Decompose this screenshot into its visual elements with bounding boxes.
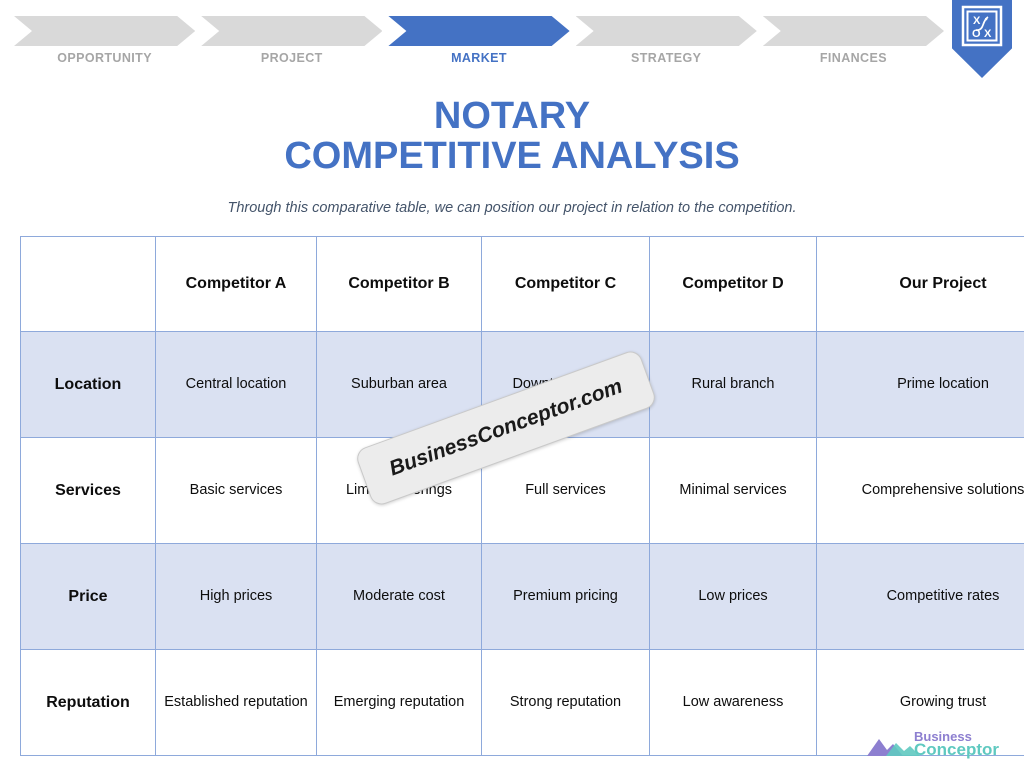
brand-word-conceptor: Conceptor — [914, 741, 999, 758]
step-chevron-market[interactable] — [388, 16, 569, 46]
corner-badge: X O X — [952, 0, 1012, 78]
table-header-corner — [21, 237, 156, 332]
table-header-competitor-c: Competitor C — [482, 237, 650, 332]
cell-reputation-competitor-b: Emerging reputation — [317, 650, 482, 756]
row-label-reputation: Reputation — [21, 650, 156, 756]
cell-services-competitor-a: Basic services — [156, 438, 317, 544]
table-header-our-project: Our Project — [817, 237, 1024, 332]
page-title: NOTARY COMPETITIVE ANALYSIS — [0, 96, 1024, 177]
row-label-services: Services — [21, 438, 156, 544]
subtitle: Through this comparative table, we can p… — [0, 200, 1024, 216]
cell-location-competitor-d: Rural branch — [650, 332, 817, 438]
footer-logo: Business Conceptor — [866, 730, 1016, 764]
cell-price-competitor-d: Low prices — [650, 544, 817, 650]
cell-services-competitor-d: Minimal services — [650, 438, 817, 544]
step-chevron-opportunity[interactable] — [14, 16, 195, 46]
table-header-competitor-b: Competitor B — [317, 237, 482, 332]
row-label-location: Location — [21, 332, 156, 438]
table-header-row: Competitor A Competitor B Competitor C C… — [21, 237, 1024, 332]
step-label-market[interactable]: MARKET — [388, 46, 569, 70]
cell-price-competitor-a: High prices — [156, 544, 317, 650]
cell-services-our-project: Comprehensive solutions — [817, 438, 1024, 544]
table-row-price: Price High prices Moderate cost Premium … — [21, 544, 1024, 650]
cell-location-our-project: Prime location — [817, 332, 1024, 438]
brand-wordmark: Business Conceptor — [914, 730, 999, 758]
cell-reputation-competitor-d: Low awareness — [650, 650, 817, 756]
cell-reputation-competitor-a: Established reputation — [156, 650, 317, 756]
cell-location-competitor-a: Central location — [156, 332, 317, 438]
step-label-finances[interactable]: FINANCES — [763, 46, 944, 70]
step-label-opportunity[interactable]: OPPORTUNITY — [14, 46, 195, 70]
row-label-price: Price — [21, 544, 156, 650]
svg-text:X: X — [984, 28, 992, 40]
step-chevron-project[interactable] — [201, 16, 382, 46]
cell-reputation-competitor-c: Strong reputation — [482, 650, 650, 756]
cell-price-competitor-b: Moderate cost — [317, 544, 482, 650]
step-chevron-row — [14, 16, 950, 46]
step-navigation: OPPORTUNITY PROJECT MARKET STRATEGY FINA… — [0, 0, 1024, 82]
cell-price-competitor-c: Premium pricing — [482, 544, 650, 650]
svg-text:X: X — [973, 15, 981, 27]
table-header-competitor-d: Competitor D — [650, 237, 817, 332]
step-label-row: OPPORTUNITY PROJECT MARKET STRATEGY FINA… — [14, 46, 950, 70]
step-label-strategy[interactable]: STRATEGY — [576, 46, 757, 70]
step-chevron-strategy[interactable] — [576, 16, 757, 46]
title-line-1: NOTARY — [0, 96, 1024, 136]
strategy-playbook-icon: X O X — [961, 5, 1003, 47]
cell-price-our-project: Competitive rates — [817, 544, 1024, 650]
title-line-2: COMPETITIVE ANALYSIS — [0, 136, 1024, 176]
step-label-project[interactable]: PROJECT — [201, 46, 382, 70]
step-chevron-finances[interactable] — [763, 16, 944, 46]
competitive-analysis-table: Competitor A Competitor B Competitor C C… — [20, 236, 1024, 756]
table-header-competitor-a: Competitor A — [156, 237, 317, 332]
